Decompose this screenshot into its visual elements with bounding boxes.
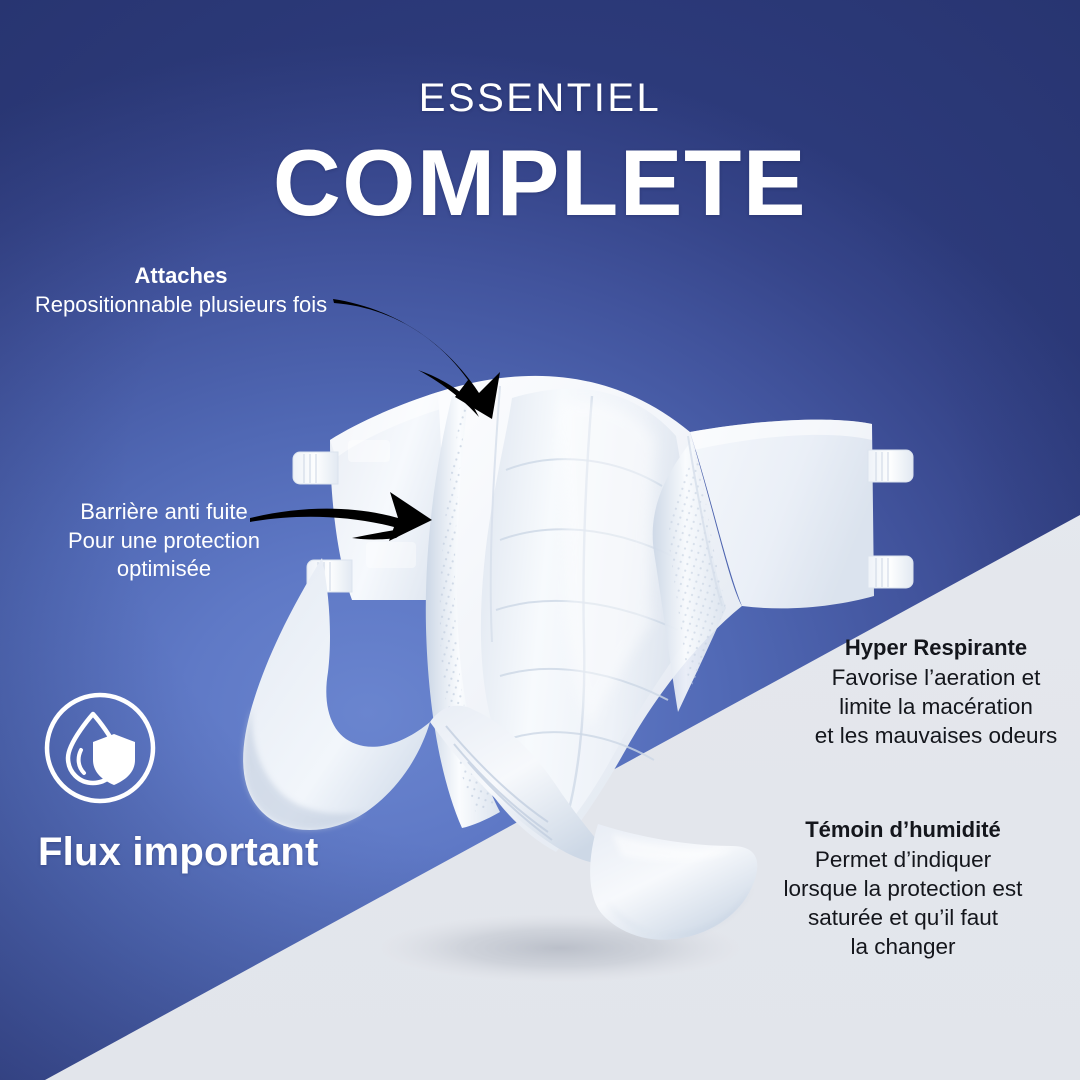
headline-text: COMPLETE — [0, 136, 1080, 230]
annotation-barriere-line-2: optimisée — [46, 555, 282, 584]
annotation-barriere: Barrière anti fuite Pour une protection … — [46, 498, 282, 584]
annotation-temoin-line-3: saturée et qu’il faut — [740, 903, 1066, 932]
annotation-temoin-title: Témoin d’humidité — [740, 816, 1066, 845]
annotation-respirante-line-1: Favorise l’aeration et — [800, 663, 1072, 692]
annotation-temoin: Témoin d’humidité Permet d’indiquer lors… — [740, 816, 1066, 962]
header-block: ESSENTIEL COMPLETE — [0, 78, 1080, 230]
eyebrow-text: ESSENTIEL — [0, 78, 1080, 118]
annotation-attaches: Attaches Repositionnable plusieurs fois — [16, 262, 346, 319]
annotation-attaches-line-1: Repositionnable plusieurs fois — [16, 291, 346, 320]
annotation-temoin-line-2: lorsque la protection est — [740, 874, 1066, 903]
droplet-shield-icon — [40, 688, 160, 808]
annotation-respirante: Hyper Respirante Favorise l’aeration et … — [800, 634, 1072, 750]
infographic-canvas: ESSENTIEL COMPLETE Attaches Repositionna… — [0, 0, 1080, 1080]
annotation-barriere-line-1: Pour une protection — [46, 527, 282, 556]
flux-badge-label: Flux important — [32, 830, 364, 875]
annotation-barriere-title: Barrière anti fuite — [46, 498, 282, 527]
annotation-respirante-line-2: limite la macération — [800, 692, 1072, 721]
annotation-temoin-line-1: Permet d’indiquer — [740, 845, 1066, 874]
annotation-attaches-title: Attaches — [16, 262, 346, 291]
annotation-respirante-line-3: et les mauvaises odeurs — [800, 721, 1072, 750]
annotation-temoin-line-4: la changer — [740, 932, 1066, 961]
flux-badge: Flux important — [32, 688, 364, 875]
annotation-respirante-title: Hyper Respirante — [800, 634, 1072, 663]
